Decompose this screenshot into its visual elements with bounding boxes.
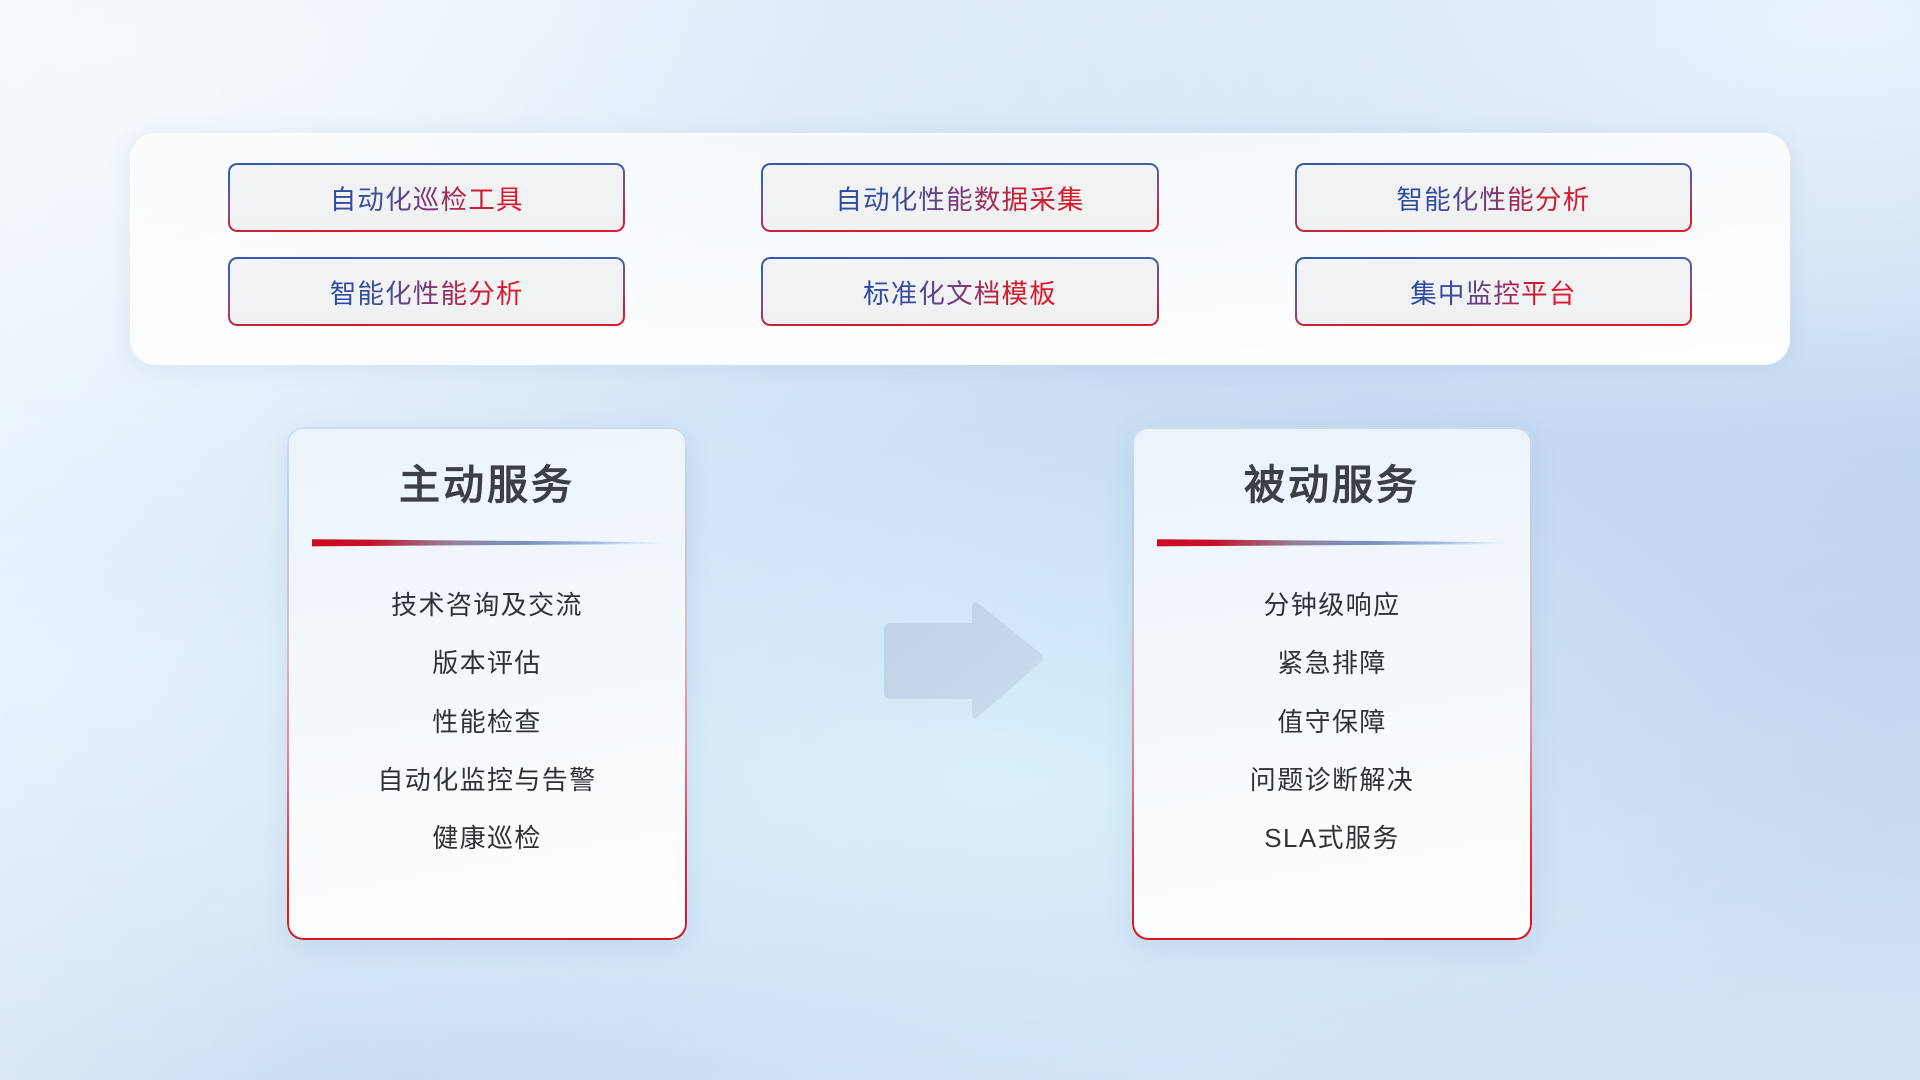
list-item: SLA式服务 bbox=[1264, 822, 1400, 855]
passive-service-title: 被动服务 bbox=[1244, 465, 1420, 506]
capability-pill-4[interactable]: 智能化性能分析 bbox=[228, 257, 625, 326]
capability-pill-label: 标准化文档模板 bbox=[863, 272, 1057, 311]
active-service-card: 主动服务 技术咨询及交流 版本评估 性能检查 bbox=[287, 427, 687, 940]
title-underline-passive bbox=[1157, 538, 1507, 547]
capability-pill-label: 自动化性能数据采集 bbox=[835, 178, 1084, 217]
list-item: 分钟级响应 bbox=[1263, 589, 1400, 622]
title-underline-active bbox=[312, 538, 662, 547]
active-service-title: 主动服务 bbox=[399, 465, 575, 506]
list-item: 紧急排障 bbox=[1277, 647, 1387, 680]
capability-pill-1[interactable]: 自动化巡检工具 bbox=[228, 163, 625, 232]
right-arrow-icon bbox=[876, 596, 1046, 726]
capability-pill-label: 智能化性能分析 bbox=[1396, 178, 1590, 217]
capability-pill-5[interactable]: 标准化文档模板 bbox=[761, 257, 1158, 326]
capability-panel: 自动化巡检工具 自动化性能数据采集 智能化性能分析 智能化性能分析 标准化文档模… bbox=[130, 133, 1790, 365]
capability-pill-label: 集中监控平台 bbox=[1410, 272, 1576, 311]
passive-service-card: 被动服务 分钟级响应 紧急排障 值守保障 bbox=[1132, 427, 1532, 940]
list-item: 值守保障 bbox=[1277, 706, 1387, 739]
capability-pill-label: 自动化巡检工具 bbox=[330, 178, 524, 217]
capability-pill-2[interactable]: 自动化性能数据采集 bbox=[761, 163, 1158, 232]
capability-pill-3[interactable]: 智能化性能分析 bbox=[1295, 163, 1692, 232]
capability-pill-grid: 自动化巡检工具 自动化性能数据采集 智能化性能分析 智能化性能分析 标准化文档模… bbox=[131, 134, 1789, 364]
passive-service-list: 分钟级响应 紧急排障 值守保障 问题诊断解决 SLA式服务 bbox=[1132, 589, 1532, 855]
list-item: 技术咨询及交流 bbox=[391, 589, 583, 622]
list-item: 自动化监控与告警 bbox=[377, 764, 596, 797]
list-item: 健康巡检 bbox=[432, 822, 542, 855]
capability-pill-label: 智能化性能分析 bbox=[330, 272, 524, 311]
list-item: 性能检查 bbox=[432, 706, 542, 739]
capability-pill-6[interactable]: 集中监控平台 bbox=[1295, 257, 1692, 326]
active-service-list: 技术咨询及交流 版本评估 性能检查 自动化监控与告警 健康巡检 bbox=[287, 589, 687, 855]
list-item: 问题诊断解决 bbox=[1250, 764, 1414, 797]
list-item: 版本评估 bbox=[432, 647, 542, 680]
